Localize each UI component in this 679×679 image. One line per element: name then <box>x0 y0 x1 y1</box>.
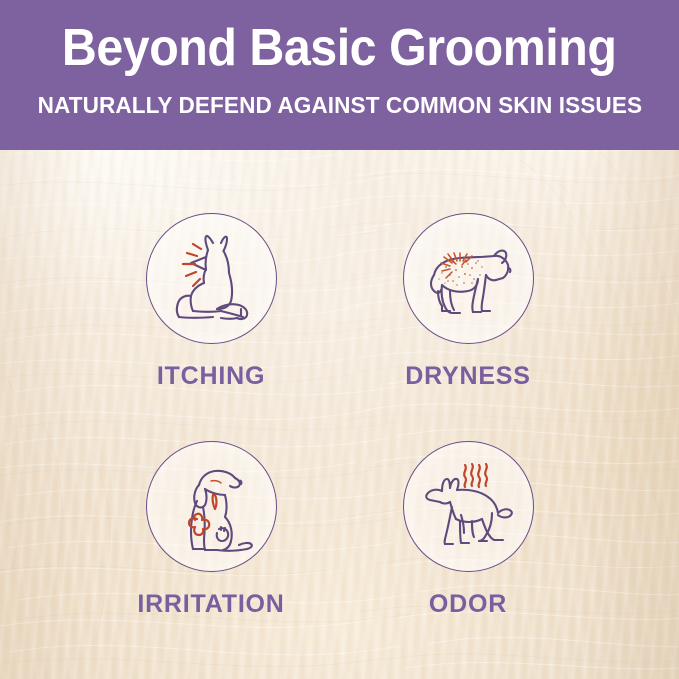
benefit-icon-circle-itching <box>146 213 277 344</box>
page-title: Beyond Basic Grooming <box>62 22 617 74</box>
benefit-label-irritation: IRRITATION <box>137 592 284 617</box>
benefits-grid: ITCHING <box>0 150 679 679</box>
header-banner: Beyond Basic Grooming NATURALLY DEFEND A… <box>0 0 679 150</box>
benefit-item-itching[interactable]: ITCHING <box>61 213 361 389</box>
dog-irritated-patch-icon <box>155 451 267 563</box>
benefit-label-odor: ODOR <box>429 592 507 617</box>
benefit-item-odor[interactable]: ODOR <box>318 441 618 617</box>
benefit-icon-circle-irritation <box>146 441 277 572</box>
benefit-icon-circle-odor <box>403 441 534 572</box>
benefit-label-itching: ITCHING <box>157 364 265 389</box>
dog-odor-icon <box>412 451 524 563</box>
benefit-item-irritation[interactable]: IRRITATION <box>61 441 361 617</box>
benefit-label-dryness: DRYNESS <box>405 364 531 389</box>
page-subtitle: NATURALLY DEFEND AGAINST COMMON SKIN ISS… <box>37 94 642 118</box>
dog-scratching-icon <box>155 223 267 335</box>
benefit-icon-circle-dryness <box>403 213 534 344</box>
benefit-item-dryness[interactable]: DRYNESS <box>318 213 618 389</box>
promo-infographic: Beyond Basic Grooming NATURALLY DEFEND A… <box>0 0 679 679</box>
dog-dry-flaky-skin-icon <box>412 223 524 335</box>
